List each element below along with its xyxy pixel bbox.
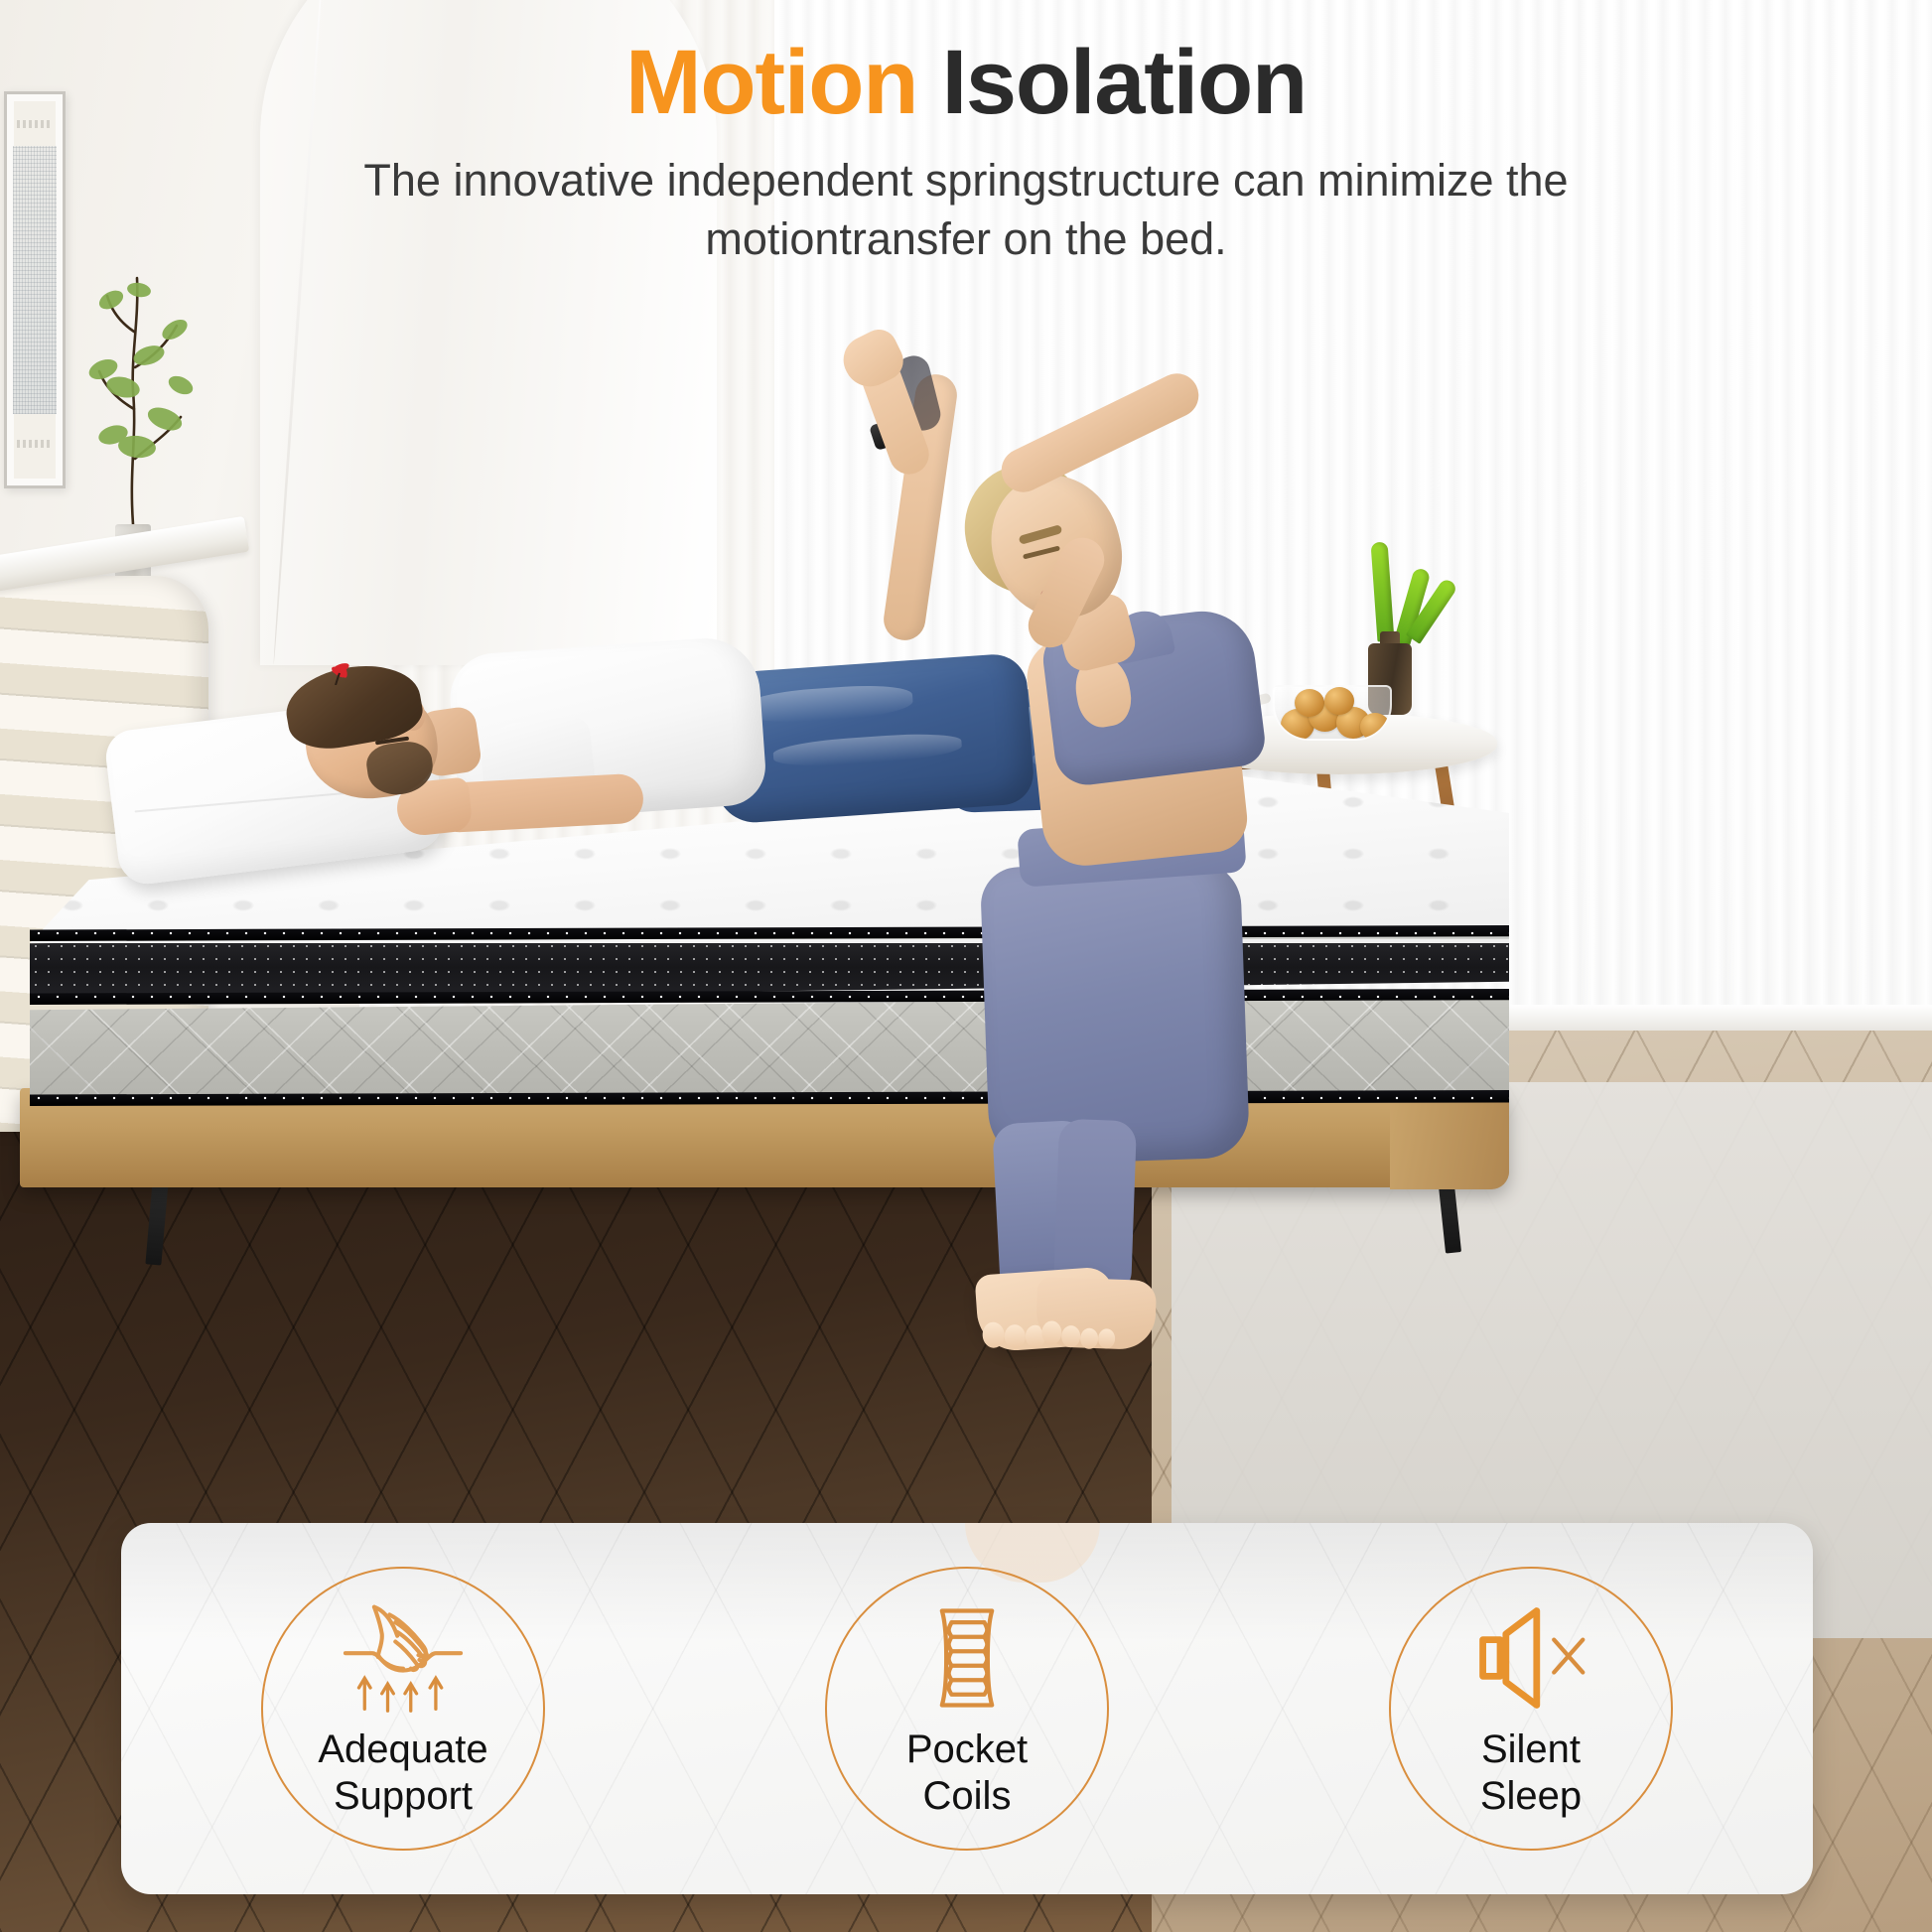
title-rest-word: Isolation: [917, 32, 1307, 133]
feature-panel: Adequate Support: [121, 1523, 1813, 1894]
feature-badge-adequate-support[interactable]: Adequate Support: [121, 1523, 685, 1894]
badge-label: Silent Sleep: [1480, 1726, 1582, 1820]
woman-foot-2: [1035, 1277, 1157, 1350]
feature-badge-pocket-coils[interactable]: Pocket Coils: [685, 1523, 1249, 1894]
muted-speaker-icon: [1463, 1597, 1598, 1719]
page-subtitle: The innovative independent springstructu…: [0, 151, 1932, 269]
badge-circle: Adequate Support: [261, 1567, 545, 1851]
product-marketing-image: Motion Isolation The innovative independ…: [0, 0, 1932, 1932]
page-title: Motion Isolation: [0, 36, 1932, 131]
hand-pressing-support-icon: [336, 1597, 471, 1719]
badge-circle: Pocket Coils: [825, 1567, 1109, 1851]
badge-label-line2: Sleep: [1480, 1774, 1582, 1818]
badge-label-line1: Silent: [1481, 1727, 1581, 1771]
woman-right-arm: [994, 366, 1205, 499]
badge-label: Adequate Support: [318, 1726, 487, 1820]
feature-badge-list: Adequate Support: [121, 1523, 1813, 1894]
badge-label-line1: Adequate: [318, 1727, 487, 1771]
badge-circle: Silent Sleep: [1389, 1567, 1673, 1851]
pocket-coil-spring-icon: [899, 1597, 1035, 1719]
badge-label-line2: Coils: [923, 1774, 1012, 1818]
red-flower-accent: [326, 659, 355, 685]
feature-badge-silent-sleep[interactable]: Silent Sleep: [1249, 1523, 1813, 1894]
badge-label-line2: Support: [334, 1774, 473, 1818]
badge-label-line1: Pocket: [906, 1727, 1028, 1771]
man-sleeping: [248, 635, 1062, 894]
header-block: Motion Isolation The innovative independ…: [0, 36, 1932, 268]
title-accent-word: Motion: [625, 32, 917, 133]
woman-stretching: [953, 328, 1370, 1330]
frame-caption-bottom: [17, 440, 53, 448]
badge-label: Pocket Coils: [906, 1726, 1028, 1820]
plant-branches-icon: [77, 260, 216, 528]
